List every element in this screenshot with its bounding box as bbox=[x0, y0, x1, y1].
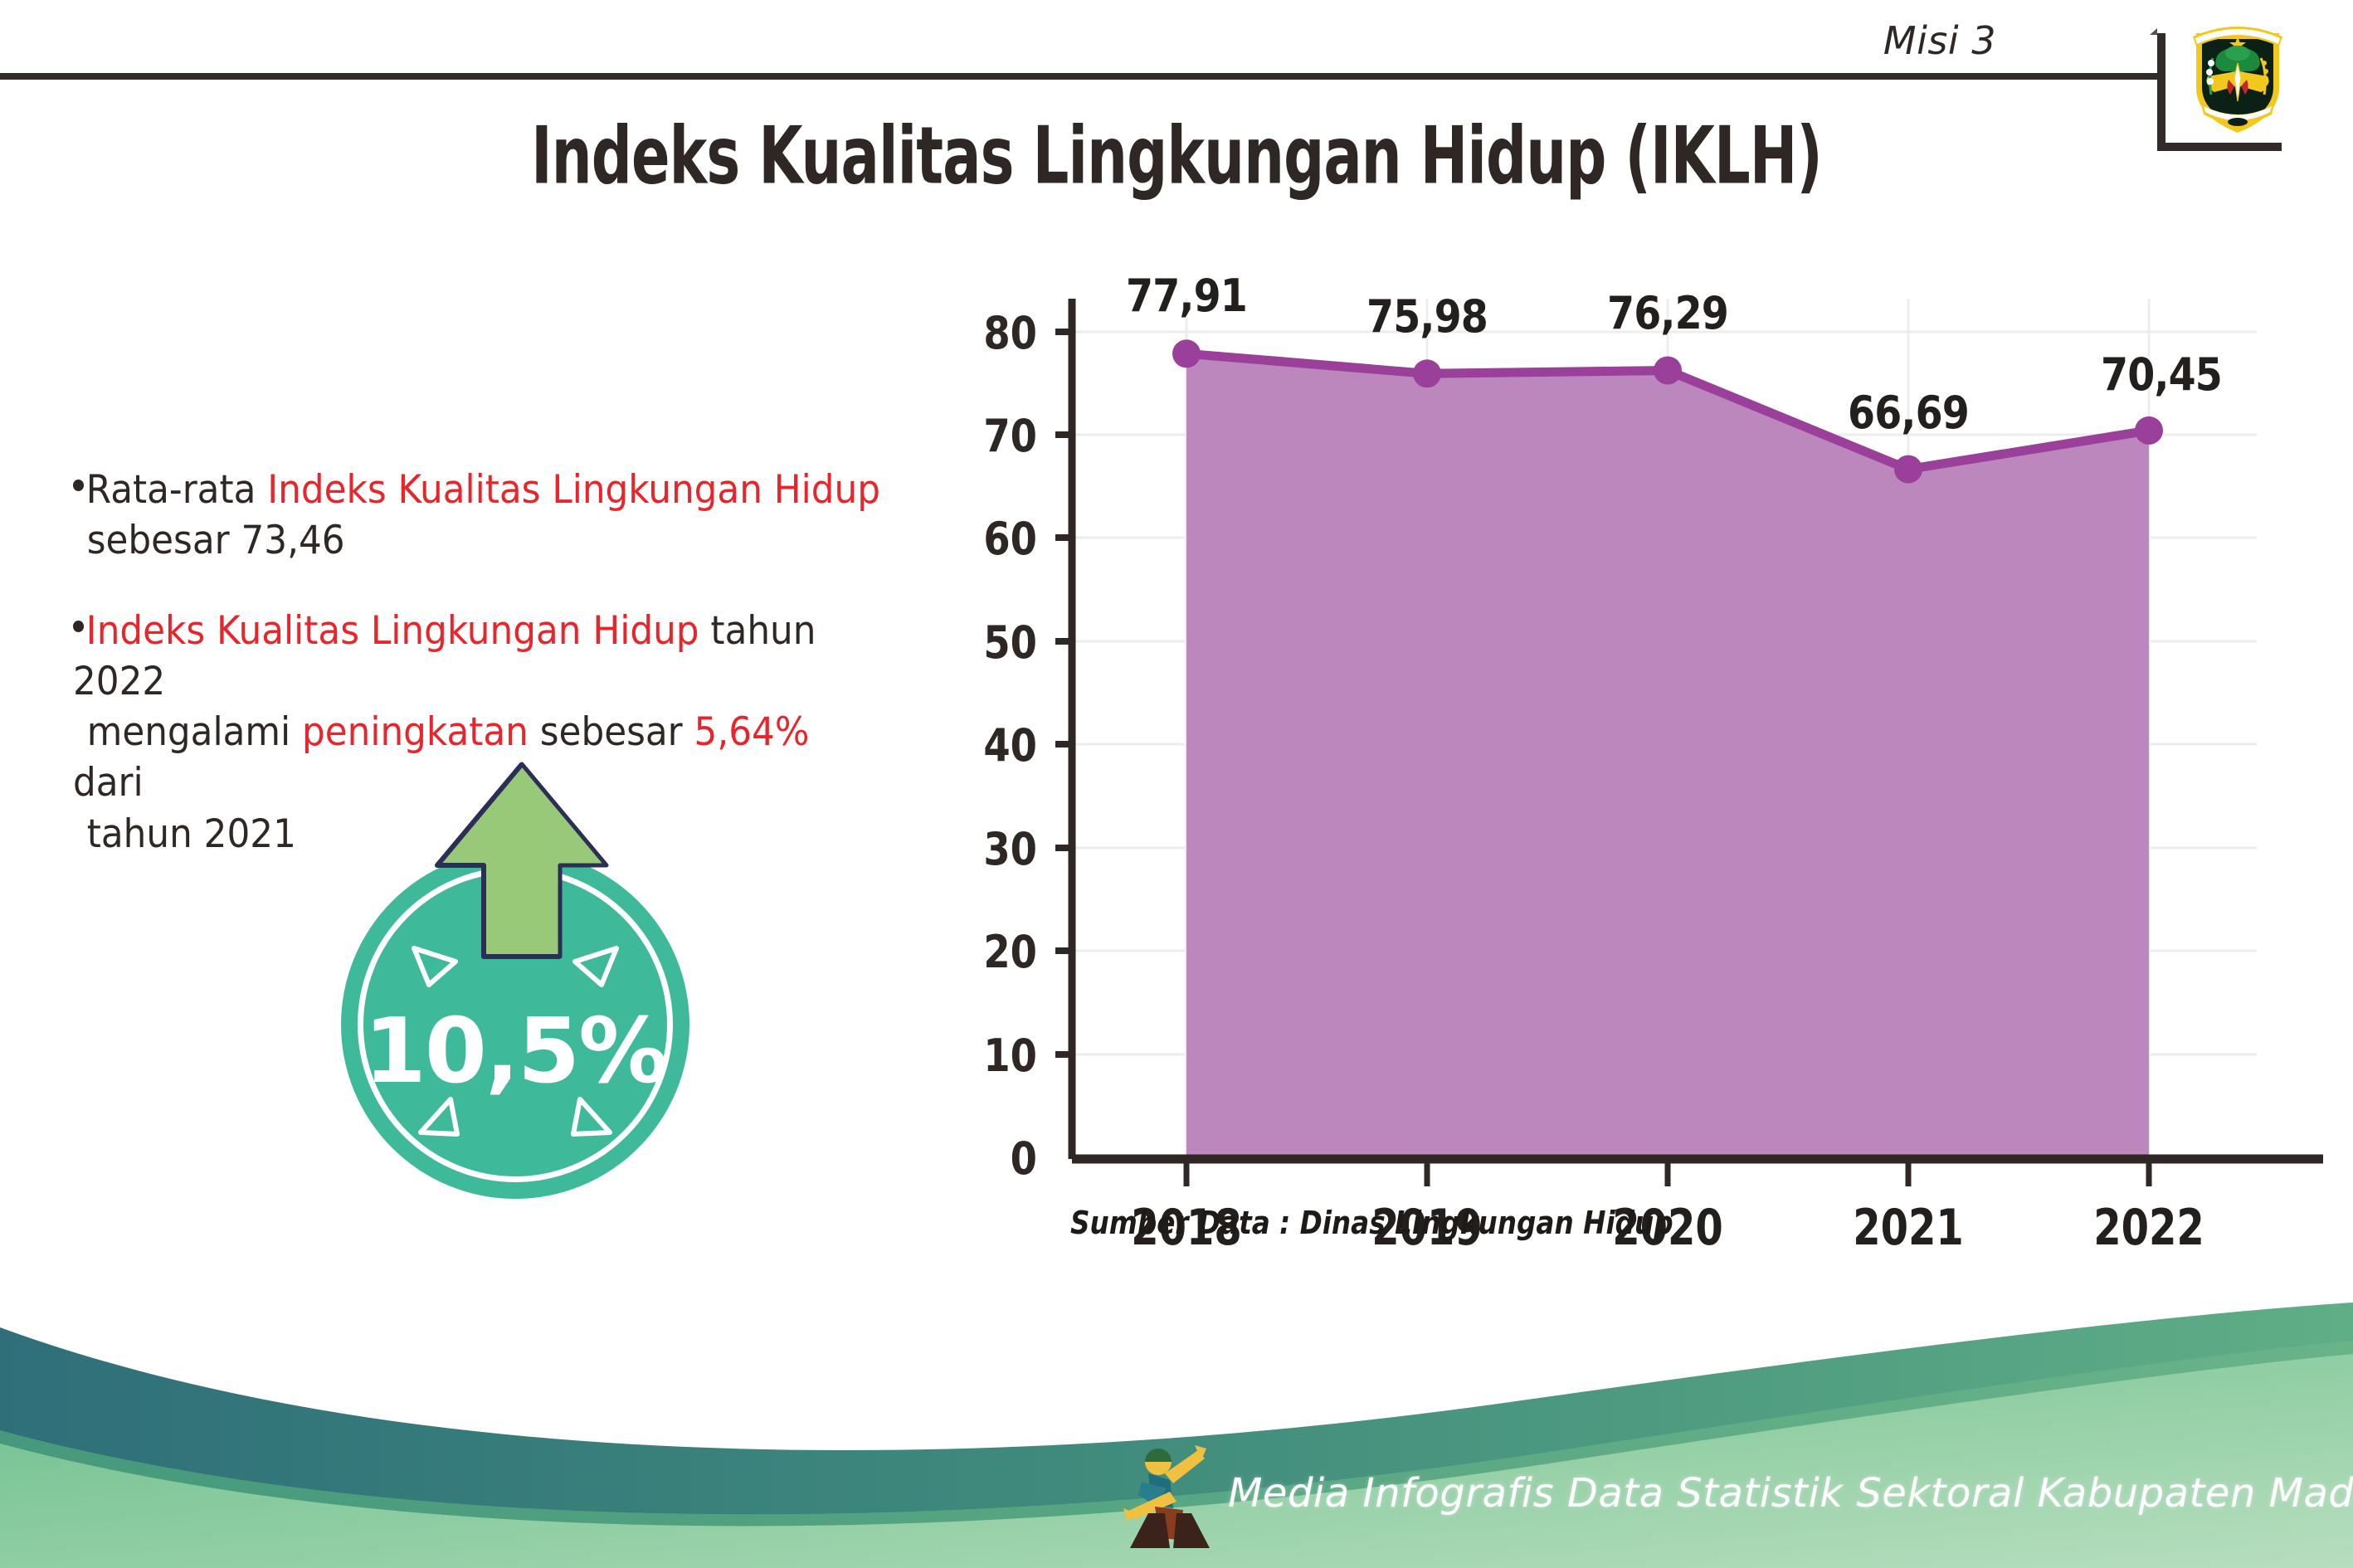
y-tick-label: 50 bbox=[958, 616, 1037, 669]
data-label: 75,98 bbox=[1332, 290, 1522, 343]
bullet-1-text-plain: Rata-rata bbox=[86, 467, 267, 513]
misi-label: Misi 3 bbox=[1883, 18, 1996, 63]
y-tick-label: 0 bbox=[958, 1132, 1037, 1185]
bullet-1-line2: sebesar 73,46 bbox=[73, 518, 345, 563]
bullet-2-line2-c: sebesar bbox=[529, 709, 694, 755]
chart-source-note: Sumber Data : Dinas Lingkungan Hidup bbox=[1070, 1205, 1673, 1241]
bullet-2-line2-percent: 5,64% bbox=[694, 709, 810, 755]
page-title: Indeks Kualitas Lingkungan Hidup (IKLH) bbox=[141, 111, 2212, 202]
y-tick-label: 80 bbox=[958, 307, 1037, 359]
bullet-2-line2-e: dari bbox=[73, 760, 144, 806]
y-tick-label: 30 bbox=[958, 823, 1037, 875]
data-label: 76,29 bbox=[1573, 287, 1763, 339]
data-label: 66,69 bbox=[1814, 387, 2004, 439]
x-tick-label: 2022 bbox=[2073, 1199, 2225, 1257]
up-arrow-icon bbox=[431, 759, 613, 1008]
chart-plot-svg bbox=[979, 282, 2340, 1220]
bullet-2-line2-a: mengalami bbox=[73, 709, 302, 755]
list-item: Rata-rata Indeks Kualitas Lingkungan Hid… bbox=[73, 465, 952, 566]
iklh-area-chart: 80 70 60 50 40 30 20 10 0 77,91 75,98 76… bbox=[979, 282, 2340, 1220]
y-tick-label: 20 bbox=[958, 926, 1037, 978]
dancer-figure-logo-icon bbox=[1118, 1437, 1221, 1558]
data-label: 70,45 bbox=[2067, 348, 2257, 401]
bullet-dot-icon bbox=[73, 621, 84, 632]
y-tick-label: 10 bbox=[958, 1030, 1037, 1082]
y-tick-label: 40 bbox=[958, 719, 1037, 772]
bullet-2-text-highlight: Indeks Kualitas Lingkungan Hidup bbox=[86, 608, 699, 654]
bullet-2-line2-highlight: peningkatan bbox=[302, 709, 529, 755]
chart-area-fill bbox=[1186, 353, 2149, 1157]
bullet-dot-icon bbox=[73, 480, 84, 491]
increase-badge: 10,5% bbox=[328, 759, 743, 1207]
y-tick-label: 60 bbox=[958, 513, 1037, 565]
badge-percentage-value: 10,5% bbox=[328, 1000, 703, 1103]
y-tick-label: 70 bbox=[958, 410, 1037, 462]
data-label: 77,91 bbox=[1092, 270, 1282, 322]
bullet-1-text-highlight: Indeks Kualitas Lingkungan Hidup bbox=[267, 467, 880, 513]
footer-caption: Media Infografis Data Statistik Sektoral… bbox=[1228, 1470, 2353, 1517]
header-horizontal-rule bbox=[0, 73, 2164, 80]
x-tick-label: 2021 bbox=[1832, 1199, 1985, 1257]
bullet-2-line3: tahun 2021 bbox=[73, 811, 296, 857]
